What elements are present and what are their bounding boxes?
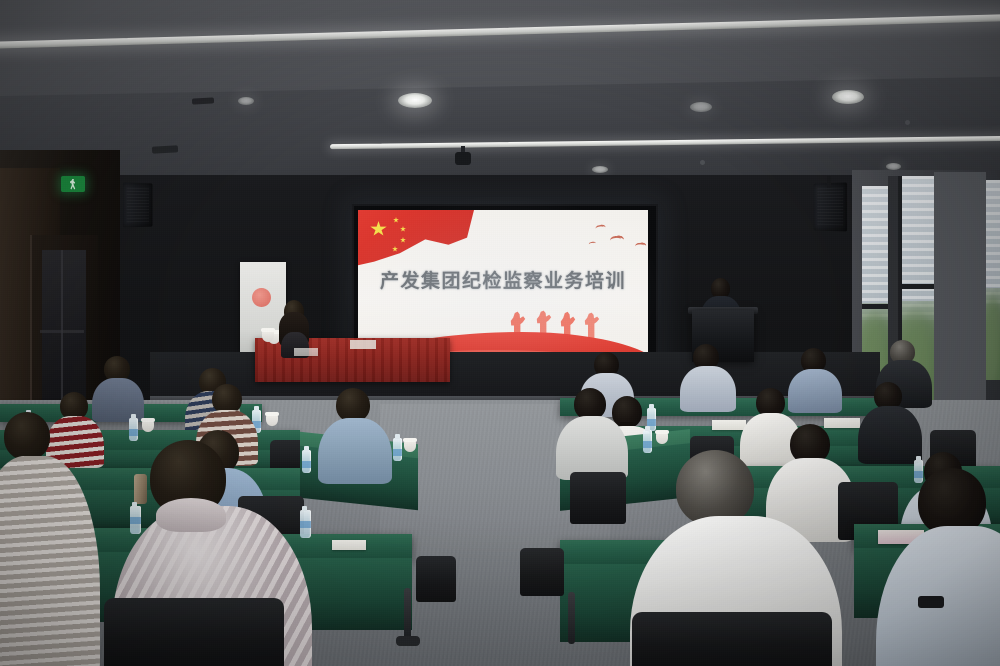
slide-title: 产发集团纪检监察业务培训 [358,266,648,293]
tea-cup [266,414,278,426]
bottle-label [914,471,923,478]
document [294,348,318,356]
water-bottle [300,510,311,538]
water-bottle [914,460,923,483]
water-bottle [393,438,402,461]
chair[interactable] [520,548,564,596]
flag-small-star [393,217,399,223]
bottle-label [129,429,138,436]
wristwatch [918,596,944,608]
exterior-building [985,180,1000,304]
attendee-torso [858,406,922,464]
chair-leg [568,592,575,644]
tea-cup [656,432,668,444]
wall-speaker [123,183,153,228]
photo-scene: 产发集团纪检监察业务培训 [0,0,1000,666]
bottle-label [647,419,656,426]
attendee-head [336,388,370,422]
water-bottle [130,506,141,534]
exit-sign [61,176,85,192]
ceiling-downlight [592,166,608,173]
bottle-label [130,517,141,524]
ceiling-soffit [0,0,1000,96]
sprinkler-head [905,120,910,125]
document [712,420,746,430]
ceiling-downlight [832,90,864,104]
attendee-head [676,450,754,526]
bird-icon [588,241,594,246]
water-bottle [643,430,652,453]
chair[interactable] [104,598,284,666]
cup-lid [403,438,417,442]
ceiling-downlight [238,97,254,105]
wall-speaker [814,182,847,231]
attendee-head [4,412,50,460]
ceiling-downlight [690,102,712,112]
cup-lid [655,430,669,434]
tea-cup [262,330,274,342]
ceiling-downlight [398,93,432,108]
cup-lid [265,412,279,416]
document [332,540,366,550]
water-bottle [302,450,311,473]
flag-small-star [400,226,406,232]
ceiling-downlight [886,163,901,170]
bird-icon [635,243,644,250]
flag-large-star [370,221,387,237]
attendee-torso [788,369,842,413]
document [824,418,860,428]
cup-lid [141,418,155,422]
attendee-torso [556,416,628,480]
window [985,180,1000,380]
attendee-torso [318,418,392,484]
hood [156,498,226,532]
exterior-building [898,176,934,320]
ceiling-fixture [192,97,214,104]
tea-cup [404,440,416,452]
bird-icon [610,235,622,244]
ceiling-fixture [152,145,178,153]
cup-lid [261,328,275,332]
ceiling-projector [455,152,471,165]
exterior-tree [985,288,1000,380]
document [350,340,376,349]
chair[interactable] [570,472,626,524]
flipchart-graphic [252,288,271,307]
chair-caster [396,636,420,646]
sprinkler-head [700,160,705,165]
chinese-flag-graphic [358,210,474,270]
chair[interactable] [632,612,832,666]
chair[interactable] [416,556,456,602]
bird-icon [595,224,604,231]
attendee-torso [92,378,144,422]
window-pier [934,172,986,418]
window-frame [898,284,934,289]
speaker-bracket [827,176,831,188]
speaker-grill [817,188,843,227]
tea-cup [142,420,154,432]
speaker-grill [127,188,149,223]
bottle-label [302,461,311,468]
window-frame [862,304,888,309]
bottle-label [300,521,311,528]
water-bottle [129,418,138,441]
flag-small-star [400,237,406,243]
chair-leg [404,588,411,642]
thermos-flask [134,474,147,504]
exterior-building [862,186,888,320]
exit-running-person-icon [70,179,77,190]
bottle-label [393,449,402,456]
door-rail [40,330,84,333]
flag-small-star [392,246,398,252]
attendee-torso [680,366,736,412]
bottle-label [643,441,652,448]
